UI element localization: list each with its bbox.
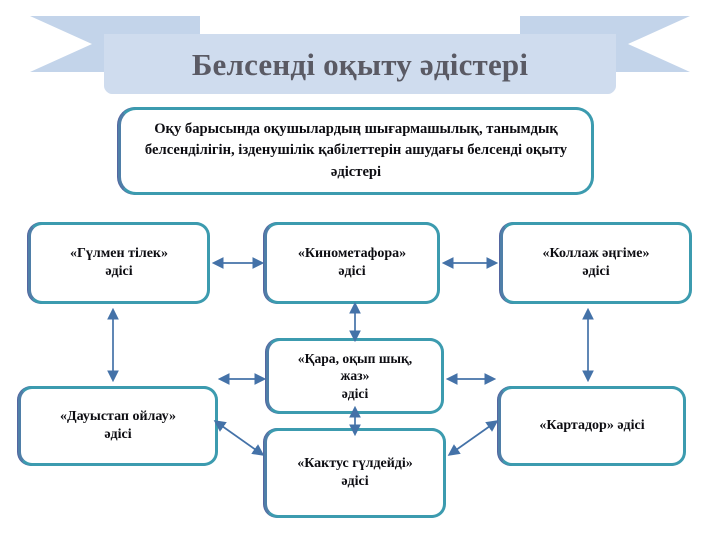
connector-dauystap-kaktus — [222, 426, 256, 450]
connector-kaktus-kartador — [456, 426, 490, 450]
page-title: Белсенді оқыту әдістері — [0, 47, 720, 83]
